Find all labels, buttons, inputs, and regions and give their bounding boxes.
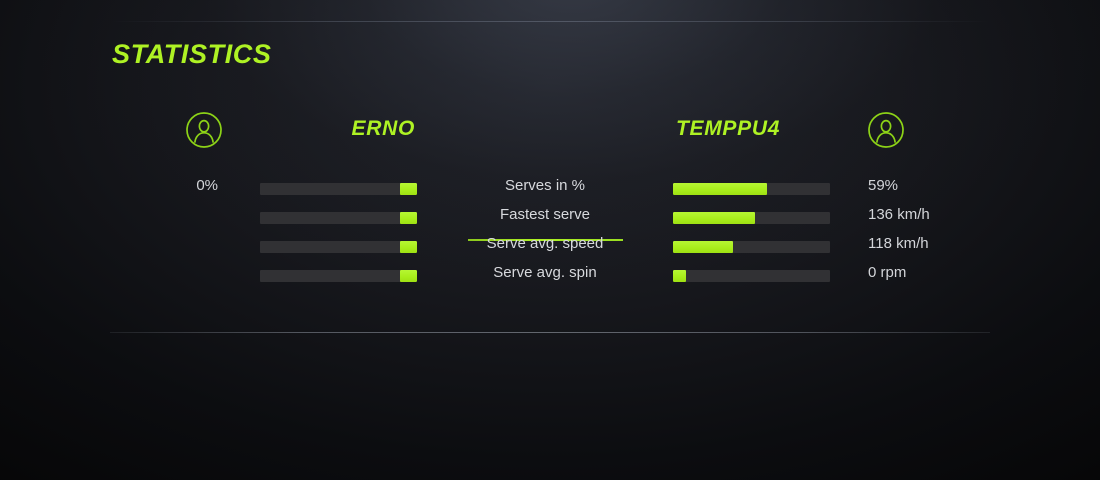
page-title: STATISTICS bbox=[112, 39, 272, 70]
stat-bar-right-fill bbox=[673, 270, 686, 282]
stats-table: 0%Serves in %59%Fastest serve136 km/hSer… bbox=[0, 176, 1100, 292]
stat-row: Serve avg. speed118 km/h bbox=[0, 234, 1100, 263]
stat-bar-right bbox=[673, 270, 830, 282]
stat-bar-left-fill bbox=[400, 270, 417, 282]
stat-label: Fastest serve bbox=[425, 206, 665, 223]
stat-label: Serves in % bbox=[425, 177, 665, 194]
user-avatar-icon bbox=[184, 110, 224, 150]
top-divider bbox=[110, 21, 990, 22]
statistics-screen: STATISTICS ERNO TEMPPU4 0%Serves in %59%… bbox=[0, 0, 1100, 480]
stat-value-right: 118 km/h bbox=[868, 235, 1018, 252]
stat-row: Fastest serve136 km/h bbox=[0, 205, 1100, 234]
player-name-right: TEMPPU4 bbox=[676, 117, 836, 141]
stat-bar-left-fill bbox=[400, 241, 417, 253]
stat-label: Serve avg. speed bbox=[425, 235, 665, 252]
stat-bar-right bbox=[673, 241, 830, 253]
stat-bar-right-fill bbox=[673, 241, 733, 253]
stat-bar-left bbox=[260, 183, 417, 195]
stat-bar-right-fill bbox=[673, 183, 767, 195]
stat-bar-left bbox=[260, 212, 417, 224]
stat-row: 0%Serves in %59% bbox=[0, 176, 1100, 205]
stat-bar-left-fill bbox=[400, 183, 417, 195]
stat-value-right: 136 km/h bbox=[868, 206, 1018, 223]
bottom-divider bbox=[110, 332, 990, 333]
stat-row: Serve avg. spin0 rpm bbox=[0, 263, 1100, 292]
player-name-left: ERNO bbox=[280, 117, 415, 141]
stat-bar-right bbox=[673, 212, 830, 224]
stat-bar-right-fill bbox=[673, 212, 755, 224]
stat-bar-right bbox=[673, 183, 830, 195]
stat-value-left: 0% bbox=[120, 177, 218, 194]
user-avatar-icon bbox=[866, 110, 906, 150]
stat-label: Serve avg. spin bbox=[425, 264, 665, 281]
players-header: ERNO TEMPPU4 bbox=[0, 110, 1100, 152]
avatar-left[interactable] bbox=[184, 110, 224, 150]
avatar-right[interactable] bbox=[866, 110, 906, 150]
stat-bar-left-fill bbox=[400, 212, 417, 224]
stat-value-right: 59% bbox=[868, 177, 1018, 194]
stat-bar-left bbox=[260, 270, 417, 282]
stat-bar-left bbox=[260, 241, 417, 253]
stat-value-right: 0 rpm bbox=[868, 264, 1018, 281]
